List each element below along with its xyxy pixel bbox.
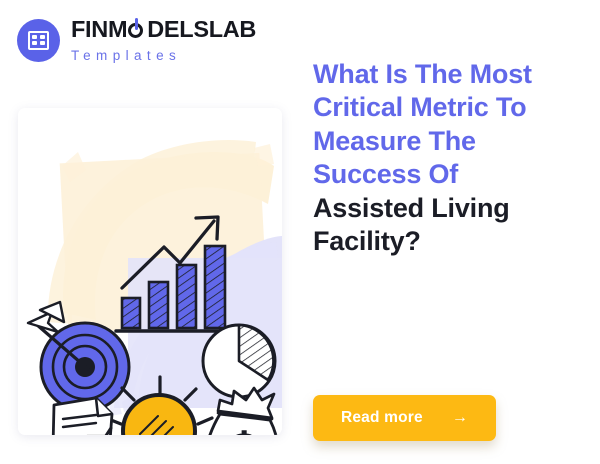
wordmark-part-2: DELSLAB <box>147 18 256 42</box>
headline-subject: Assisted Living Facility? <box>313 192 581 259</box>
business-analytics-illustration: $ <box>18 108 282 435</box>
brand-wordmark: FINM DELSLAB <box>71 18 256 42</box>
checklist-document-icon <box>52 398 112 435</box>
poster-canvas: FINM DELSLAB Templates <box>0 0 600 464</box>
wordmark-pin-o-icon <box>127 18 147 41</box>
grid-4-squares-icon <box>17 19 60 62</box>
headline-block: What Is The Most Critical Metric To Meas… <box>313 58 581 259</box>
brand-logo[interactable]: FINM DELSLAB Templates <box>17 18 256 62</box>
brand-tagline: Templates <box>71 49 256 63</box>
pie-chart-icon <box>203 325 275 397</box>
read-more-label: Read more <box>341 409 423 427</box>
read-more-button[interactable]: Read more → <box>313 395 496 441</box>
svg-text:$: $ <box>231 424 257 435</box>
wordmark-part-1: FINM <box>71 18 127 42</box>
brand-text: FINM DELSLAB Templates <box>71 18 256 62</box>
arrow-right-icon: → <box>452 410 468 426</box>
headline-question: What Is The Most Critical Metric To Meas… <box>313 58 581 192</box>
